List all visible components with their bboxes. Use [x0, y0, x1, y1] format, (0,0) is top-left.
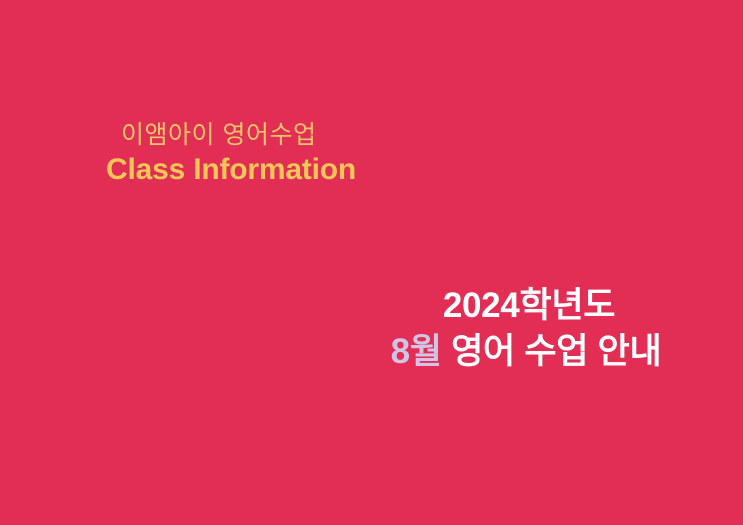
headline-block: 2024학년도 8월 영어 수업 안내	[378, 286, 680, 371]
slide-canvas: 이앰아이 영어수업 Class Information 2024학년도 8월 영…	[0, 0, 743, 525]
headline-line-year: 2024학년도	[378, 286, 680, 325]
brand-korean-name: 이앰아이 영어수업	[121, 123, 356, 148]
headline-line-subject: 8월 영어 수업 안내	[372, 332, 680, 371]
brand-title-block: 이앰아이 영어수업 Class Information	[106, 123, 356, 185]
headline-month: 8월	[391, 332, 442, 371]
brand-english-name: Class Information	[106, 155, 356, 185]
headline-subject-text: 영어 수업 안내	[442, 332, 662, 371]
